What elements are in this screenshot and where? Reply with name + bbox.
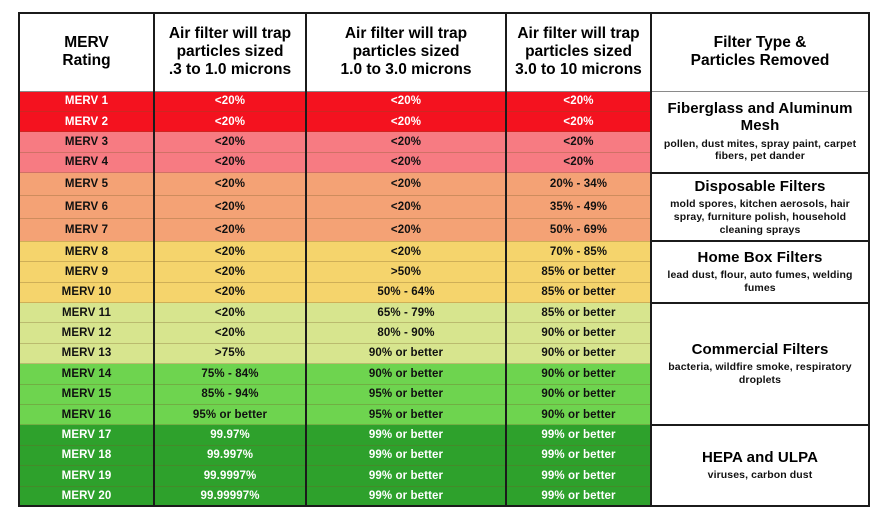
cell-merv-rating: MERV 1	[19, 91, 154, 111]
cell-merv-rating: MERV 3	[19, 132, 154, 152]
cell-trap-10-30: <20%	[306, 173, 506, 196]
table-row: MERV 11<20%65% - 79%85% or betterCommerc…	[19, 303, 869, 323]
cell-trap-10-30: 95% or better	[306, 384, 506, 404]
cell-merv-rating: MERV 14	[19, 364, 154, 384]
cell-trap-03-10: 99.9997%	[154, 466, 306, 486]
cell-trap-30-10: <20%	[506, 132, 651, 152]
cell-trap-30-10: 90% or better	[506, 404, 651, 424]
cell-trap-03-10: <20%	[154, 218, 306, 241]
filter-type-particles: viruses, carbon dust	[658, 469, 862, 482]
header-line: 3.0 to 10 microns	[511, 61, 646, 79]
cell-merv-rating: MERV 8	[19, 241, 154, 261]
filter-type-particles: bacteria, wildfire smoke, respiratory dr…	[658, 361, 862, 387]
header-line: MERV	[24, 34, 149, 52]
merv-rating-table: MERV Rating Air filter will trap particl…	[18, 12, 870, 507]
filter-type-particles: lead dust, flour, auto fumes, welding fu…	[658, 269, 862, 295]
cell-merv-rating: MERV 19	[19, 466, 154, 486]
filter-type-title: Home Box Filters	[658, 249, 862, 266]
cell-trap-30-10: <20%	[506, 91, 651, 111]
column-header-merv-rating: MERV Rating	[19, 13, 154, 91]
cell-trap-10-30: <20%	[306, 152, 506, 172]
cell-trap-30-10: 99% or better	[506, 486, 651, 506]
cell-trap-03-10: <20%	[154, 303, 306, 323]
cell-trap-03-10: 85% - 94%	[154, 384, 306, 404]
cell-trap-10-30: 99% or better	[306, 445, 506, 465]
cell-trap-10-30: 99% or better	[306, 425, 506, 445]
cell-trap-10-30: 50% - 64%	[306, 282, 506, 302]
cell-trap-03-10: 95% or better	[154, 404, 306, 424]
cell-trap-03-10: <20%	[154, 282, 306, 302]
cell-merv-rating: MERV 16	[19, 404, 154, 424]
table-row: MERV 1<20%<20%<20%Fiberglass and Aluminu…	[19, 91, 869, 111]
cell-merv-rating: MERV 5	[19, 173, 154, 196]
filter-type-particles: mold spores, kitchen aerosols, hair spra…	[658, 198, 862, 236]
cell-trap-30-10: 20% - 34%	[506, 173, 651, 196]
header-row: MERV Rating Air filter will trap particl…	[19, 13, 869, 91]
header-line: Air filter will trap	[311, 25, 501, 43]
table-row: MERV 5<20%<20%20% - 34%Disposable Filter…	[19, 173, 869, 196]
cell-merv-rating: MERV 18	[19, 445, 154, 465]
cell-trap-03-10: <20%	[154, 262, 306, 282]
cell-trap-30-10: 90% or better	[506, 323, 651, 343]
cell-trap-30-10: 99% or better	[506, 466, 651, 486]
filter-type-cell: Disposable Filtersmold spores, kitchen a…	[651, 173, 869, 242]
header-line: 1.0 to 3.0 microns	[311, 61, 501, 79]
table-header: MERV Rating Air filter will trap particl…	[19, 13, 869, 91]
cell-trap-30-10: 90% or better	[506, 343, 651, 363]
cell-trap-10-30: 95% or better	[306, 404, 506, 424]
cell-trap-30-10: 99% or better	[506, 425, 651, 445]
cell-trap-10-30: <20%	[306, 91, 506, 111]
filter-type-title: Disposable Filters	[658, 178, 862, 195]
table-row: MERV 8<20%<20%70% - 85%Home Box Filtersl…	[19, 241, 869, 261]
cell-merv-rating: MERV 9	[19, 262, 154, 282]
cell-merv-rating: MERV 11	[19, 303, 154, 323]
cell-trap-30-10: 90% or better	[506, 364, 651, 384]
cell-trap-10-30: 99% or better	[306, 466, 506, 486]
header-line: Air filter will trap	[511, 25, 646, 43]
cell-trap-03-10: <20%	[154, 111, 306, 131]
filter-type-cell: Home Box Filterslead dust, flour, auto f…	[651, 241, 869, 302]
header-line: .3 to 1.0 microns	[159, 61, 301, 79]
column-header-particles-30-10-microns: Air filter will trap particles sized 3.0…	[506, 13, 651, 91]
cell-trap-03-10: <20%	[154, 152, 306, 172]
cell-trap-30-10: <20%	[506, 152, 651, 172]
filter-type-title: HEPA and ULPA	[658, 449, 862, 466]
cell-trap-30-10: 35% - 49%	[506, 195, 651, 218]
cell-merv-rating: MERV 20	[19, 486, 154, 506]
cell-trap-10-30: <20%	[306, 241, 506, 261]
cell-trap-03-10: 99.99997%	[154, 486, 306, 506]
header-line: particles sized	[311, 43, 501, 61]
column-header-particles-10-30-microns: Air filter will trap particles sized 1.0…	[306, 13, 506, 91]
cell-merv-rating: MERV 17	[19, 425, 154, 445]
header-line: Particles Removed	[656, 52, 864, 70]
cell-trap-10-30: >50%	[306, 262, 506, 282]
cell-trap-03-10: >75%	[154, 343, 306, 363]
filter-type-particles: pollen, dust mites, spray paint, carpet …	[658, 138, 862, 164]
cell-trap-30-10: 85% or better	[506, 282, 651, 302]
header-line: particles sized	[511, 43, 646, 61]
filter-type-cell: HEPA and ULPAviruses, carbon dust	[651, 425, 869, 507]
column-header-particles-03-10-microns: Air filter will trap particles sized .3 …	[154, 13, 306, 91]
cell-trap-30-10: <20%	[506, 111, 651, 131]
cell-trap-30-10: 99% or better	[506, 445, 651, 465]
header-line: Filter Type &	[656, 34, 864, 52]
cell-merv-rating: MERV 10	[19, 282, 154, 302]
filter-type-title: Fiberglass and Aluminum Mesh	[658, 100, 862, 135]
cell-trap-10-30: 80% - 90%	[306, 323, 506, 343]
column-header-filter-type: Filter Type & Particles Removed	[651, 13, 869, 91]
cell-trap-03-10: <20%	[154, 195, 306, 218]
cell-merv-rating: MERV 2	[19, 111, 154, 131]
cell-trap-10-30: 65% - 79%	[306, 303, 506, 323]
header-line: Air filter will trap	[159, 25, 301, 43]
table-body: MERV 1<20%<20%<20%Fiberglass and Aluminu…	[19, 91, 869, 506]
filter-type-title: Commercial Filters	[658, 341, 862, 358]
cell-merv-rating: MERV 15	[19, 384, 154, 404]
cell-trap-03-10: 75% - 84%	[154, 364, 306, 384]
cell-trap-30-10: 50% - 69%	[506, 218, 651, 241]
cell-trap-03-10: <20%	[154, 173, 306, 196]
table-row: MERV 1799.97%99% or better99% or betterH…	[19, 425, 869, 445]
cell-trap-03-10: <20%	[154, 323, 306, 343]
filter-type-cell: Commercial Filtersbacteria, wildfire smo…	[651, 303, 869, 425]
cell-merv-rating: MERV 4	[19, 152, 154, 172]
cell-trap-10-30: 90% or better	[306, 343, 506, 363]
cell-merv-rating: MERV 6	[19, 195, 154, 218]
cell-trap-03-10: <20%	[154, 91, 306, 111]
cell-trap-10-30: <20%	[306, 195, 506, 218]
cell-trap-10-30: <20%	[306, 218, 506, 241]
header-line: particles sized	[159, 43, 301, 61]
cell-trap-10-30: 99% or better	[306, 486, 506, 506]
cell-trap-30-10: 90% or better	[506, 384, 651, 404]
cell-trap-30-10: 85% or better	[506, 303, 651, 323]
cell-merv-rating: MERV 7	[19, 218, 154, 241]
cell-trap-10-30: <20%	[306, 132, 506, 152]
cell-trap-30-10: 85% or better	[506, 262, 651, 282]
cell-trap-03-10: 99.97%	[154, 425, 306, 445]
header-line: Rating	[24, 52, 149, 70]
filter-type-cell: Fiberglass and Aluminum Meshpollen, dust…	[651, 91, 869, 173]
cell-trap-10-30: <20%	[306, 111, 506, 131]
cell-trap-30-10: 70% - 85%	[506, 241, 651, 261]
merv-chart-container: MERV Rating Air filter will trap particl…	[0, 0, 886, 488]
cell-trap-10-30: 90% or better	[306, 364, 506, 384]
cell-trap-03-10: <20%	[154, 132, 306, 152]
cell-merv-rating: MERV 12	[19, 323, 154, 343]
cell-trap-03-10: <20%	[154, 241, 306, 261]
cell-merv-rating: MERV 13	[19, 343, 154, 363]
cell-trap-03-10: 99.997%	[154, 445, 306, 465]
